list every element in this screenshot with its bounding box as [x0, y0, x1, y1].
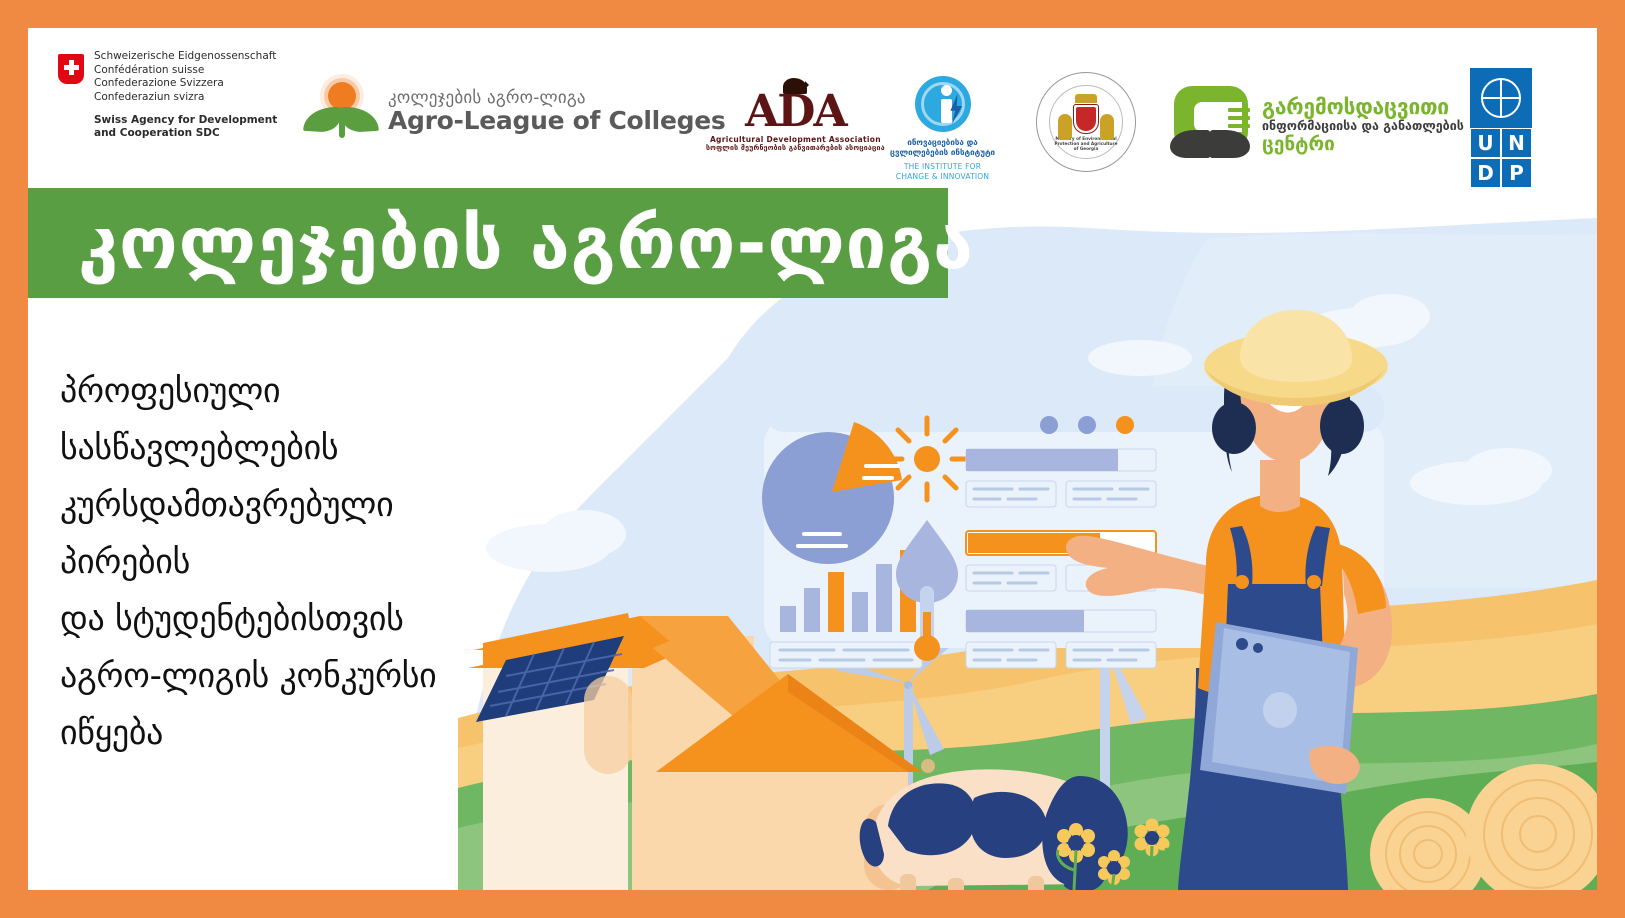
announcement-line-5: აგრო-ლიგის კონკურსი: [60, 648, 530, 705]
ada-wordmark: ADA: [745, 90, 845, 134]
announcement-text: პროფესიული სასწავლებლების კურსდამთავრებუ…: [60, 363, 530, 762]
book-leaf-icon: [1168, 86, 1254, 164]
announcement-line-1: პროფესიული: [60, 363, 530, 420]
institute-en-line-1: THE INSTITUTE FOR: [896, 162, 989, 172]
logo-strip: Schweizerische Eidgenossenschaft Confédé…: [28, 28, 1597, 178]
eiec-logo: გარემოსდაცვითი ინფორმაციისა და განათლები…: [1168, 86, 1464, 164]
institute-ka-line-2: ცვლილებების ინსტიტუტი: [890, 148, 995, 158]
undp-letter-p: P: [1501, 158, 1532, 188]
undp-letter-d: D: [1470, 158, 1501, 188]
sdc-bold-line-2: and Cooperation SDC: [94, 127, 277, 141]
announcement-line-4: და სტუდენტებისთვის: [60, 591, 530, 648]
agro-league-label-en: Agro-League of Colleges: [388, 106, 725, 135]
swiss-cross-icon: [58, 54, 84, 84]
ministry-en-line-2: Protection and Agriculture: [1055, 141, 1118, 146]
undp-letter-n: N: [1501, 128, 1532, 158]
eagle-icon: [783, 78, 807, 94]
swiss-agency-logo: Schweizerische Eidgenossenschaft Confédé…: [58, 50, 277, 141]
announcement-line-3: კურსდამთავრებული პირების: [60, 477, 530, 591]
sdc-line-it: Confederazione Svizzera: [94, 77, 277, 91]
ada-logo: ADA Agricultural Development Association…: [706, 78, 885, 152]
eiec-line-1: გარემოსდაცვითი: [1262, 96, 1464, 118]
sdc-line-de: Schweizerische Eidgenossenschaft: [94, 50, 277, 64]
undp-letter-u: U: [1470, 128, 1501, 158]
ministry-en-line-3: of Georgia: [1055, 146, 1118, 151]
undp-logo: U N D P: [1470, 68, 1532, 188]
un-emblem-icon: [1470, 68, 1532, 128]
poster: Schweizerische Eidgenossenschaft Confédé…: [0, 0, 1625, 918]
sdc-line-fr: Confédération suisse: [94, 64, 277, 78]
institute-logo: ინოვაციებისა და ცვლილებების ინსტიტუტი TH…: [890, 76, 995, 182]
institute-en-line-2: CHANGE & INNOVATION: [896, 172, 989, 182]
ministry-coat-of-arms-icon: Ministry of Environmental Protection and…: [1036, 72, 1136, 172]
ada-subtitle-ka: სოფლის მეურნეობის განვითარების ასოციაცია: [706, 144, 885, 152]
announcement-line-6: იწყება: [60, 705, 530, 762]
ministry-seal: Ministry of Environmental Protection and…: [1036, 72, 1136, 172]
institute-i-bolt-icon: [915, 76, 971, 132]
agro-league-logo: კოლეჯების აგრო-ლიგა Agro-League of Colle…: [306, 80, 725, 142]
institute-ka-line-1: ინოვაციებისა და: [890, 138, 995, 148]
sunflower-leaf-icon: [306, 80, 378, 142]
poster-card: Schweizerische Eidgenossenschaft Confédé…: [28, 28, 1597, 890]
ada-subtitle-en: Agricultural Development Association: [710, 135, 881, 144]
announcement-line-2: სასწავლებლების: [60, 420, 530, 477]
sdc-line-rm: Confederaziun svizra: [94, 91, 277, 105]
sdc-bold-line-1: Swiss Agency for Development: [94, 114, 277, 127]
page-title: კოლეჯების აგრო-ლიგა: [78, 204, 974, 282]
agro-league-label-ka: კოლეჯების აგრო-ლიგა: [388, 88, 725, 108]
eiec-line-3: ცენტრი: [1262, 134, 1464, 154]
title-banner: კოლეჯების აგრო-ლიგა: [28, 188, 948, 298]
eiec-line-2: ინფორმაციისა და განათლების: [1262, 118, 1464, 134]
